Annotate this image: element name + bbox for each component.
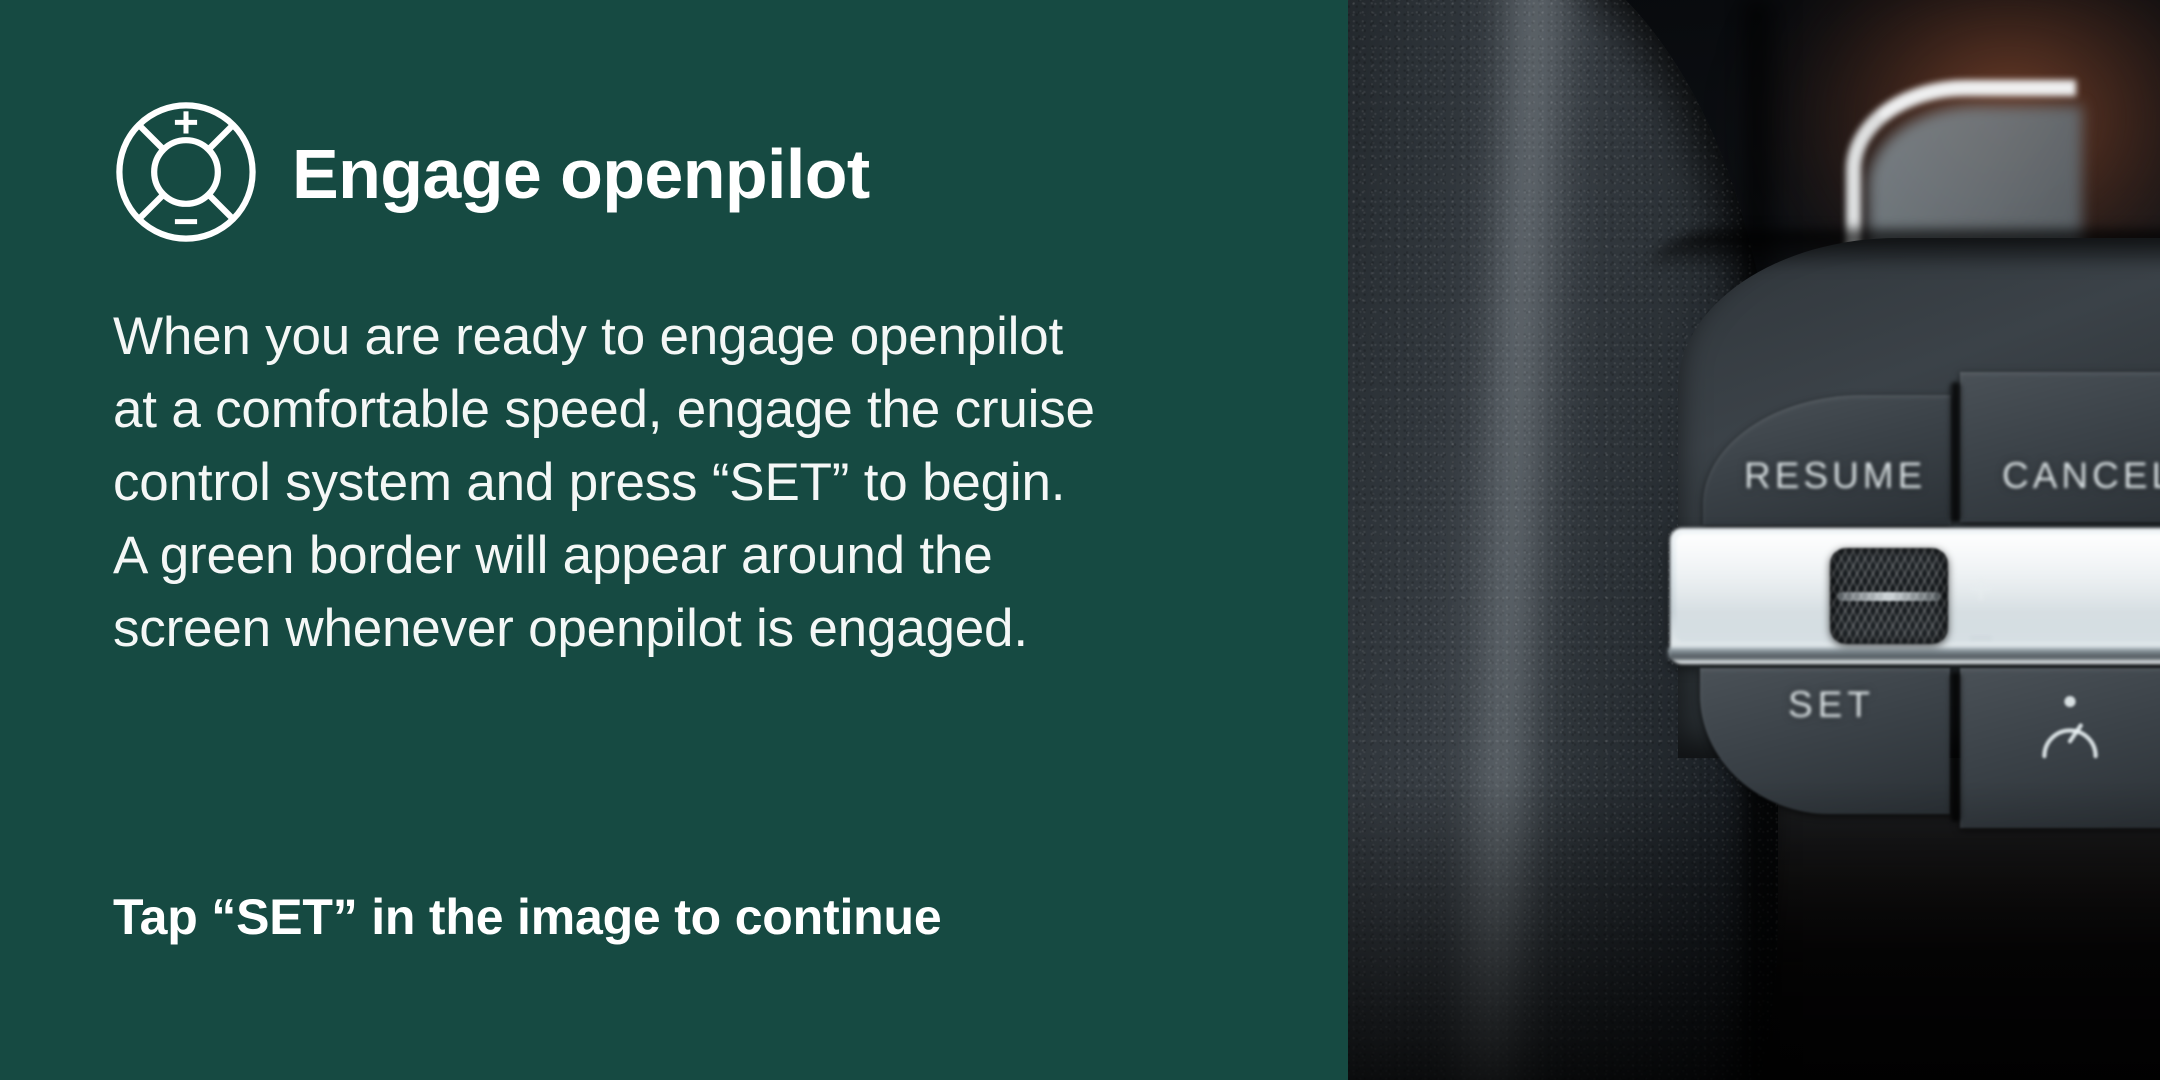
set-button-label: SET <box>1788 684 1875 726</box>
resume-button-label: RESUME <box>1744 455 1926 497</box>
cancel-button-label: CANCEL <box>2002 455 2160 497</box>
instruction-body: When you are ready to engage openpilot a… <box>113 300 1293 665</box>
minus-icon[interactable] <box>1970 636 1992 640</box>
body-line: When you are ready to engage openpilot <box>113 300 1293 373</box>
plus-icon[interactable] <box>1970 578 1992 600</box>
button-seam <box>1948 382 1963 522</box>
cruise-control-dial-icon <box>112 98 260 246</box>
call-to-action-text: Tap “SET” in the image to continue <box>113 888 941 946</box>
instruction-panel: Engage openpilot When you are ready to e… <box>0 0 1348 1080</box>
cancel-button[interactable] <box>1960 372 2160 522</box>
scroll-wheel-icon[interactable] <box>1830 548 1948 644</box>
body-line: at a comfortable speed, engage the cruis… <box>113 373 1293 446</box>
steering-wheel-photo[interactable]: RESUME CANCEL SET <box>1348 0 2160 1080</box>
speed-limiter-gauge-icon <box>2036 690 2104 766</box>
body-line: screen whenever openpilot is engaged. <box>113 592 1293 665</box>
body-line: control system and press “SET” to begin. <box>113 446 1293 519</box>
onboarding-screen: Engage openpilot When you are ready to e… <box>0 0 2160 1080</box>
spoke-top-edge <box>1648 230 2160 270</box>
button-seam <box>1948 672 1963 822</box>
scroll-wheel-chrome-edge <box>1668 648 2160 660</box>
body-line: A green border will appear around the <box>113 519 1293 592</box>
panel-header: Engage openpilot <box>112 98 870 246</box>
page-title: Engage openpilot <box>292 139 870 209</box>
